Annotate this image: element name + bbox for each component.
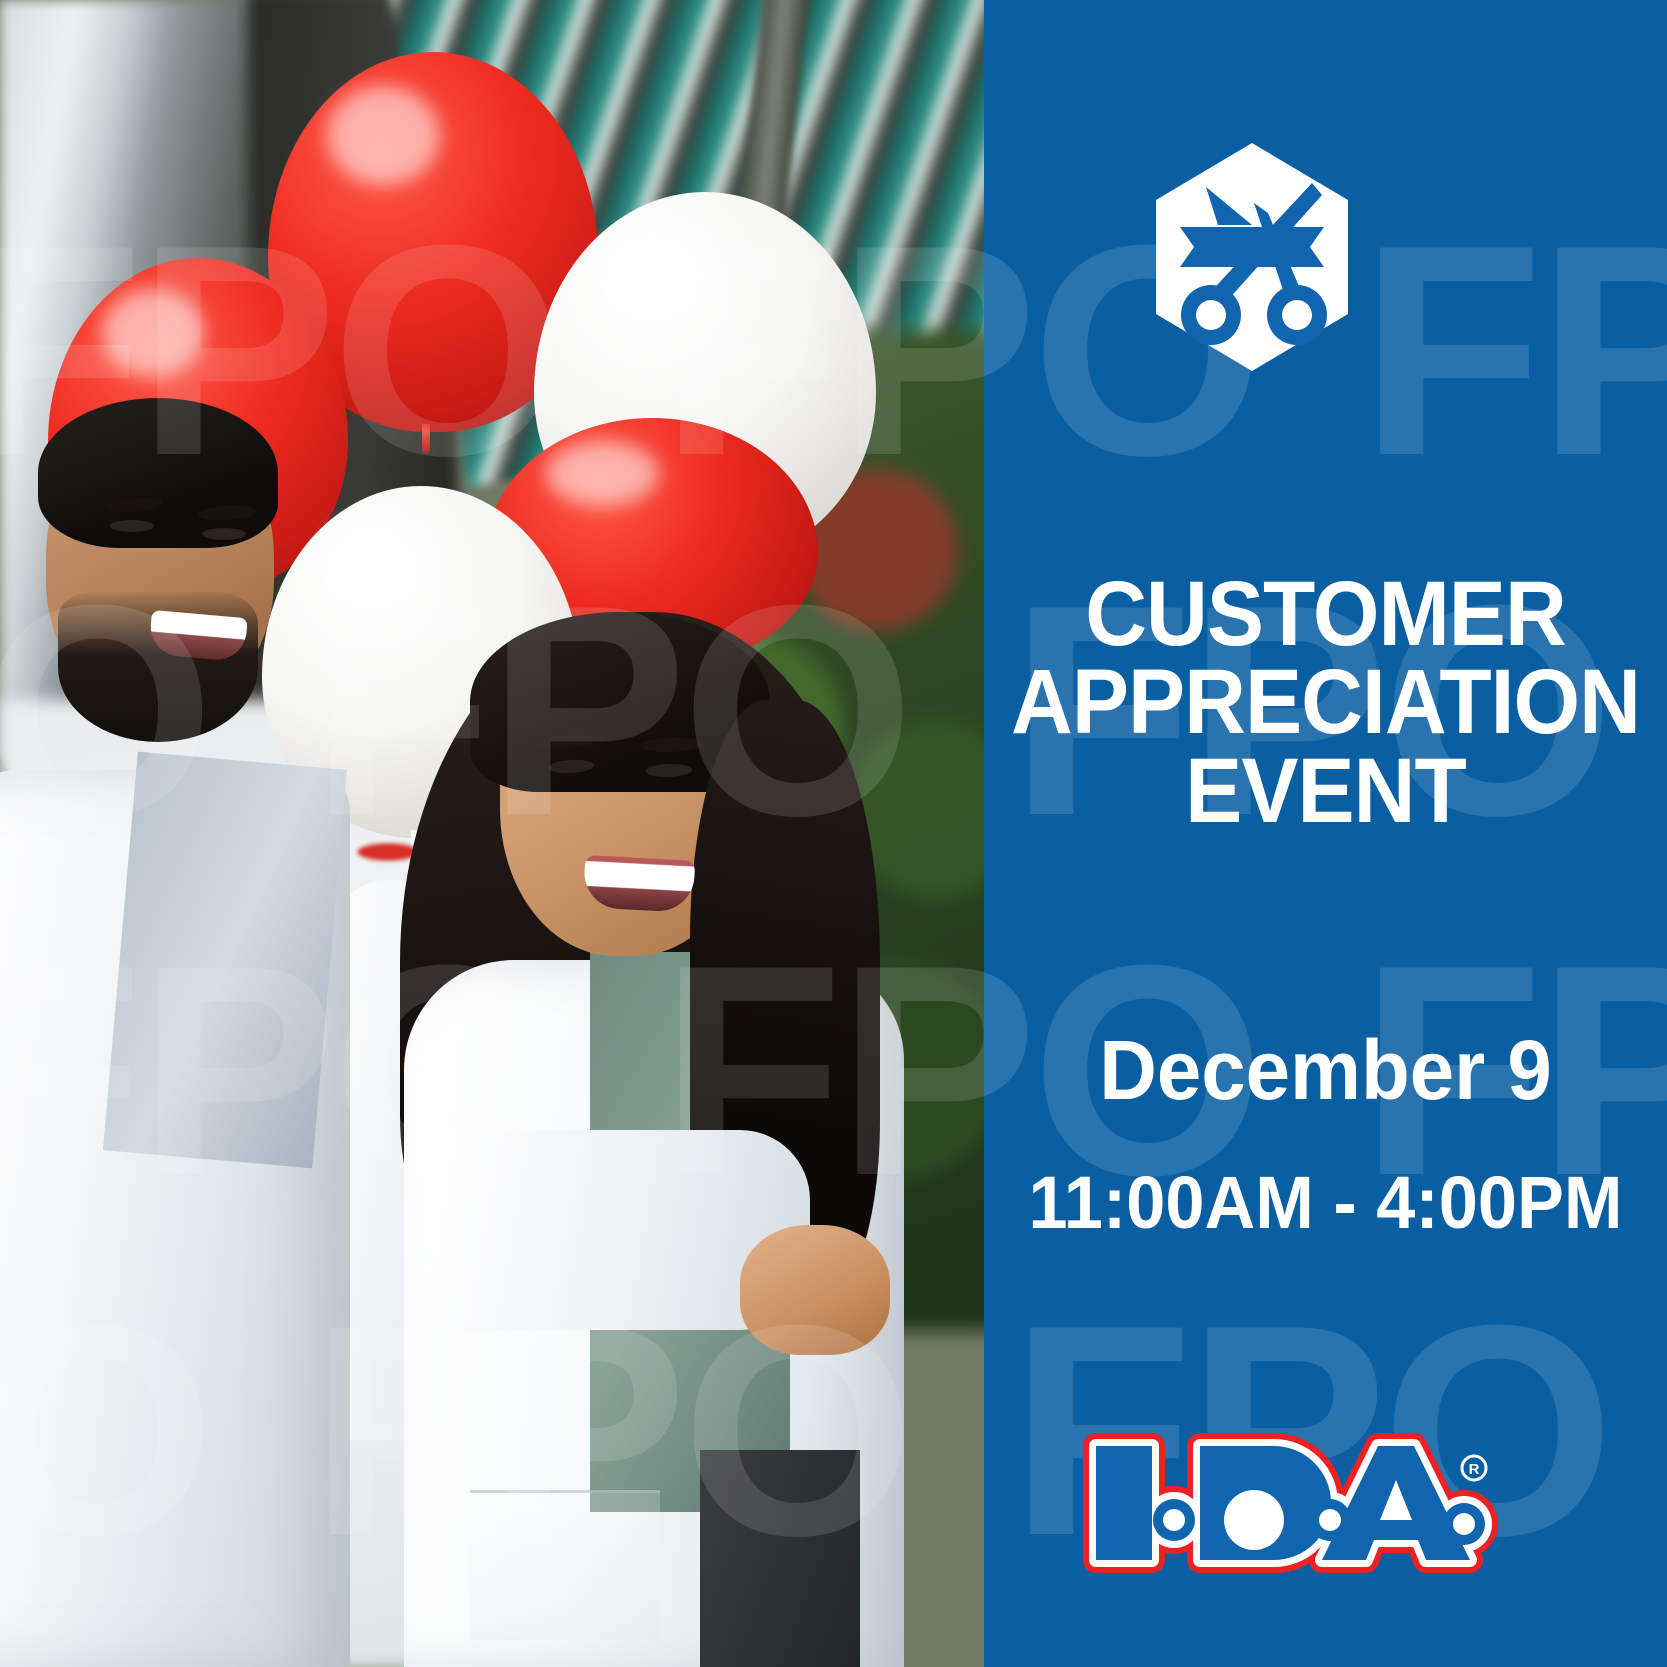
- event-time: 11:00AM - 4:00PM: [1001, 1166, 1650, 1240]
- ribbon-cutting-hexagon-icon: [1156, 143, 1348, 371]
- headline-line-3: EVENT: [1008, 747, 1643, 835]
- pharmacist-female-coat-pocket: [470, 1490, 660, 1640]
- registered-trademark-icon: R: [1462, 1456, 1486, 1480]
- svg-text:R: R: [1469, 1461, 1480, 1478]
- promotional-poster: FPOFPOFPOFPOFPOFPOFPOFPOFPOFPOFPOFPO: [0, 0, 1667, 1667]
- pharmacist-male-eye-right: [202, 528, 246, 540]
- event-photo: [0, 0, 984, 1667]
- pharmacist-male-hair: [38, 398, 278, 548]
- ida-logo: R: [1078, 1428, 1498, 1578]
- headline-line-1: CUSTOMER: [1008, 570, 1643, 658]
- pharmacist-male-shirt: [103, 752, 347, 1169]
- pharmacist-female-pants: [700, 1450, 860, 1667]
- headline-line-2: APPRECIATION: [1008, 658, 1643, 746]
- pharmacist-male-eye-left: [110, 520, 154, 532]
- event-date: December 9: [1001, 1028, 1650, 1112]
- page-title: CUSTOMER APPRECIATION EVENT: [1008, 570, 1643, 835]
- pharmacist-female-hands: [740, 1225, 890, 1355]
